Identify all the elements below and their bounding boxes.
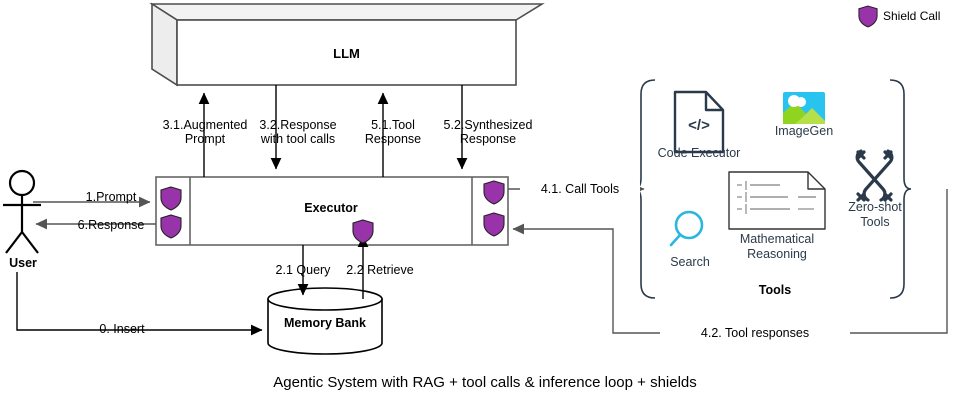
user-label: User — [0, 256, 46, 270]
shield-icon-tool-response — [483, 212, 505, 237]
legend-shield-label: Shield Call — [883, 9, 970, 23]
tools-group-label: Tools — [715, 283, 835, 297]
user-actor-icon — [3, 171, 41, 253]
code-file-icon: </> — [675, 92, 723, 152]
crossed-wrenches-icon — [857, 151, 892, 200]
tool-label-code-executor: Code Executor — [644, 146, 754, 161]
image-icon — [783, 92, 825, 124]
svg-text:</>: </> — [688, 117, 710, 134]
llm-label: LLM — [177, 46, 516, 61]
edge-label-call-tools: 4.1. Call Tools — [520, 182, 640, 196]
edge-label-tool-responses: 4.2. Tool responses — [660, 326, 850, 340]
edge-label-response: 6.Response — [63, 218, 159, 232]
edge-label-synthesized-response: 5.2.Synthesized Response — [420, 118, 556, 146]
tool-label-search: Search — [652, 255, 728, 270]
edge-label-insert: 0. Insert — [62, 322, 182, 336]
tool-label-math-reasoning: Mathematical Reasoning — [727, 232, 827, 262]
magnifier-icon — [671, 212, 702, 245]
shield-icon-memory — [352, 219, 374, 244]
diagram-canvas: </> — [0, 0, 970, 411]
memory-bank-label: Memory Bank — [268, 316, 382, 330]
shield-icon-output — [160, 214, 182, 239]
formula-document-icon — [729, 172, 825, 229]
tool-label-zero-shot-tools: Zero-shot Tools — [840, 200, 910, 230]
executor-label: Executor — [190, 201, 472, 215]
diagram-caption: Agentic System with RAG + tool calls & i… — [0, 374, 970, 391]
shield-icon-legend — [858, 5, 878, 28]
edge-label-retrieve: 2.2 Retrieve — [330, 263, 430, 277]
tool-label-imagegen: ImageGen — [759, 124, 849, 139]
llm-box — [152, 4, 542, 85]
shield-icon-input — [160, 186, 182, 211]
shield-icon-tool-call — [483, 180, 505, 205]
edge-label-prompt: 1.Prompt — [63, 190, 159, 204]
